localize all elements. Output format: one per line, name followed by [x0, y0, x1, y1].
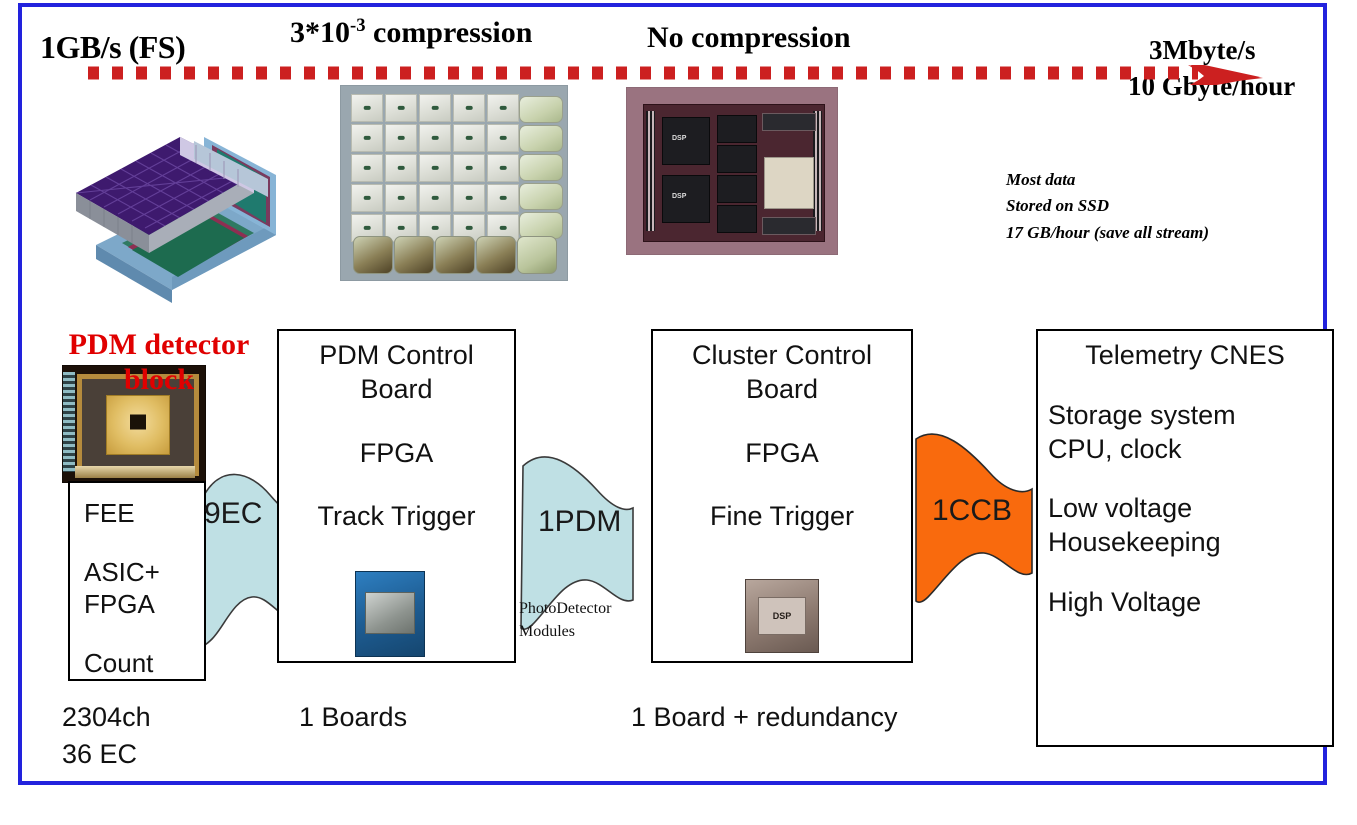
- mapmt-cell: [385, 184, 417, 212]
- mapmt-cell: [419, 94, 451, 122]
- compression-exponent: -3: [350, 15, 366, 36]
- mapmt-cell: [419, 184, 451, 212]
- dsp-board-connector: [762, 113, 816, 131]
- mapmt-cell: [487, 94, 519, 122]
- photodetector-modules-label: PhotoDetector Modules: [519, 597, 611, 643]
- mapmt-cell: [453, 94, 485, 122]
- label-output-rate-mbytes: 3Mbyte/s: [1149, 35, 1255, 66]
- dsp-memory-chip: [717, 145, 757, 173]
- compression-prefix: 3*10: [290, 16, 350, 49]
- mapmt-side-module: [519, 212, 563, 239]
- dsp-chip-photo: [745, 579, 819, 653]
- pdm-control-board-block: PDM Control Board FPGA Track Trigger: [277, 329, 516, 663]
- fpga-chip-photo: [355, 571, 425, 657]
- fee-asic-package-image: [62, 365, 206, 483]
- mapmt-cell: [487, 154, 519, 182]
- dsp-board-connector: [762, 217, 816, 235]
- dsp-memory-chip: [717, 205, 757, 233]
- telemetry-line-2: CPU, clock: [1048, 433, 1322, 467]
- fee-line-2: ASIC+: [84, 556, 194, 589]
- pdm-control-board-content: PDM Control Board FPGA Track Trigger: [279, 331, 514, 534]
- mapmt-array-image: [340, 85, 568, 281]
- pdm-control-title-line-1: PDM Control: [289, 339, 504, 373]
- dsp-pcb: DSP DSP: [643, 104, 825, 242]
- pdm-control-title-line-2: Board: [289, 373, 504, 407]
- mapmt-bottom-module: [517, 236, 557, 274]
- cluster-control-line-3: Fine Trigger: [663, 500, 901, 534]
- telemetry-line-5: High Voltage: [1048, 586, 1322, 620]
- diagram-canvas: 1GB/s (FS) 3*10-3 compression No compres…: [0, 0, 1357, 825]
- mapmt-cell: [419, 124, 451, 152]
- fee-line-4: Count: [84, 647, 194, 680]
- fee-block-content: FEE ASIC+ FPGA Count: [70, 483, 204, 679]
- asic-gold-cavity: [106, 395, 170, 455]
- photodetector-modules-line-2: Modules: [519, 620, 611, 643]
- fee-line-1: FEE: [84, 497, 194, 530]
- focal-surface-detector-image: [44, 75, 294, 330]
- mapmt-bottom-module: [394, 236, 434, 274]
- spacer: [1048, 373, 1322, 399]
- telemetry-line-3: Low voltage: [1048, 492, 1322, 526]
- mapmt-cell: [453, 124, 485, 152]
- telemetry-line-1: Storage system: [1048, 399, 1322, 433]
- mapmt-bottom-module: [435, 236, 475, 274]
- mapmt-grid: [351, 94, 519, 242]
- asic-board-edge: [75, 466, 195, 478]
- compression-suffix: compression: [366, 16, 533, 49]
- spacer: [84, 530, 194, 556]
- asic-die: [130, 414, 146, 429]
- mapmt-bottom-module: [476, 236, 516, 274]
- label-compression-ratio: 3*10-3 compression: [290, 15, 532, 50]
- cluster-control-board-content: Cluster Control Board FPGA Fine Trigger: [653, 331, 911, 534]
- mapmt-cell: [453, 184, 485, 212]
- pdm-control-line-3: Track Trigger: [289, 500, 504, 534]
- mapmt-cell: [385, 94, 417, 122]
- mapmt-side-module: [519, 183, 563, 210]
- mapmt-cell: [453, 154, 485, 182]
- spacer: [663, 407, 901, 437]
- spacer: [1048, 560, 1322, 586]
- mapmt-cell: [385, 124, 417, 152]
- fee-caption-line-1: 2304ch: [62, 699, 151, 736]
- connector-1ccb-label: 1CCB: [932, 494, 1012, 528]
- mapmt-cell: [487, 124, 519, 152]
- pdm-control-caption: 1 Boards: [299, 699, 407, 736]
- fee-block: FEE ASIC+ FPGA Count: [68, 481, 206, 681]
- fee-caption-line-2: 36 EC: [62, 736, 151, 773]
- cluster-control-line-2: FPGA: [663, 437, 901, 471]
- spacer: [289, 470, 504, 500]
- mapmt-side-module: [519, 154, 563, 181]
- telemetry-cnes-content: Telemetry CNES Storage system CPU, clock…: [1038, 331, 1332, 620]
- spacer: [289, 407, 504, 437]
- fee-line-3: FPGA: [84, 588, 194, 621]
- dsp-chip-label: DSP: [672, 135, 686, 142]
- telemetry-cnes-block: Telemetry CNES Storage system CPU, clock…: [1036, 329, 1334, 747]
- cluster-control-caption: 1 Board + redundancy: [631, 699, 897, 736]
- mapmt-cell: [351, 184, 383, 212]
- label-input-data-rate: 1GB/s (FS): [40, 29, 185, 66]
- photodetector-modules-line-1: PhotoDetector: [519, 597, 611, 620]
- telemetry-line-4: Housekeeping: [1048, 526, 1322, 560]
- cluster-control-title-line-2: Board: [663, 373, 901, 407]
- telemetry-title: Telemetry CNES: [1048, 339, 1322, 373]
- mapmt-cell: [351, 154, 383, 182]
- label-no-compression: No compression: [647, 21, 851, 55]
- cluster-control-title-line-1: Cluster Control: [663, 339, 901, 373]
- spacer: [84, 621, 194, 647]
- dsp-memory-chip: [717, 115, 757, 143]
- mapmt-cell: [487, 184, 519, 212]
- spacer: [663, 470, 901, 500]
- storage-note-line-3: 17 GB/hour (save all stream): [1006, 220, 1209, 246]
- mapmt-side-module: [519, 96, 563, 123]
- mapmt-cell: [351, 124, 383, 152]
- fee-caption: 2304ch 36 EC: [62, 699, 151, 774]
- mapmt-bottom-module: [353, 236, 393, 274]
- dsp-memory-chip: [717, 175, 757, 203]
- xilinx-fpga-chip: [764, 157, 814, 209]
- outer-frame: 1GB/s (FS) 3*10-3 compression No compres…: [18, 3, 1327, 785]
- connector-1pdm-label: 1PDM: [538, 505, 621, 539]
- mapmt-cell: [419, 154, 451, 182]
- pdm-control-line-2: FPGA: [289, 437, 504, 471]
- spacer: [1048, 466, 1322, 492]
- mapmt-cell: [351, 94, 383, 122]
- dsp-connector-rail: [646, 111, 655, 231]
- cluster-control-board-block: Cluster Control Board FPGA Fine Trigger: [651, 329, 913, 663]
- storage-note: Most data Stored on SSD 17 GB/hour (save…: [1006, 167, 1209, 246]
- pdm-detector-label-line-1: PDM detector: [40, 327, 278, 362]
- storage-note-line-2: Stored on SSD: [1006, 193, 1209, 219]
- storage-note-line-1: Most data: [1006, 167, 1209, 193]
- mapmt-side-module: [519, 125, 563, 152]
- asic-pin-row: [63, 372, 75, 472]
- dsp-board-image: DSP DSP: [626, 87, 838, 255]
- connector-9ec-label: 9EC: [204, 497, 262, 531]
- asic-ceramic-ring: [77, 374, 199, 476]
- mapmt-cell: [385, 154, 417, 182]
- dsp-chip-label: DSP: [672, 193, 686, 200]
